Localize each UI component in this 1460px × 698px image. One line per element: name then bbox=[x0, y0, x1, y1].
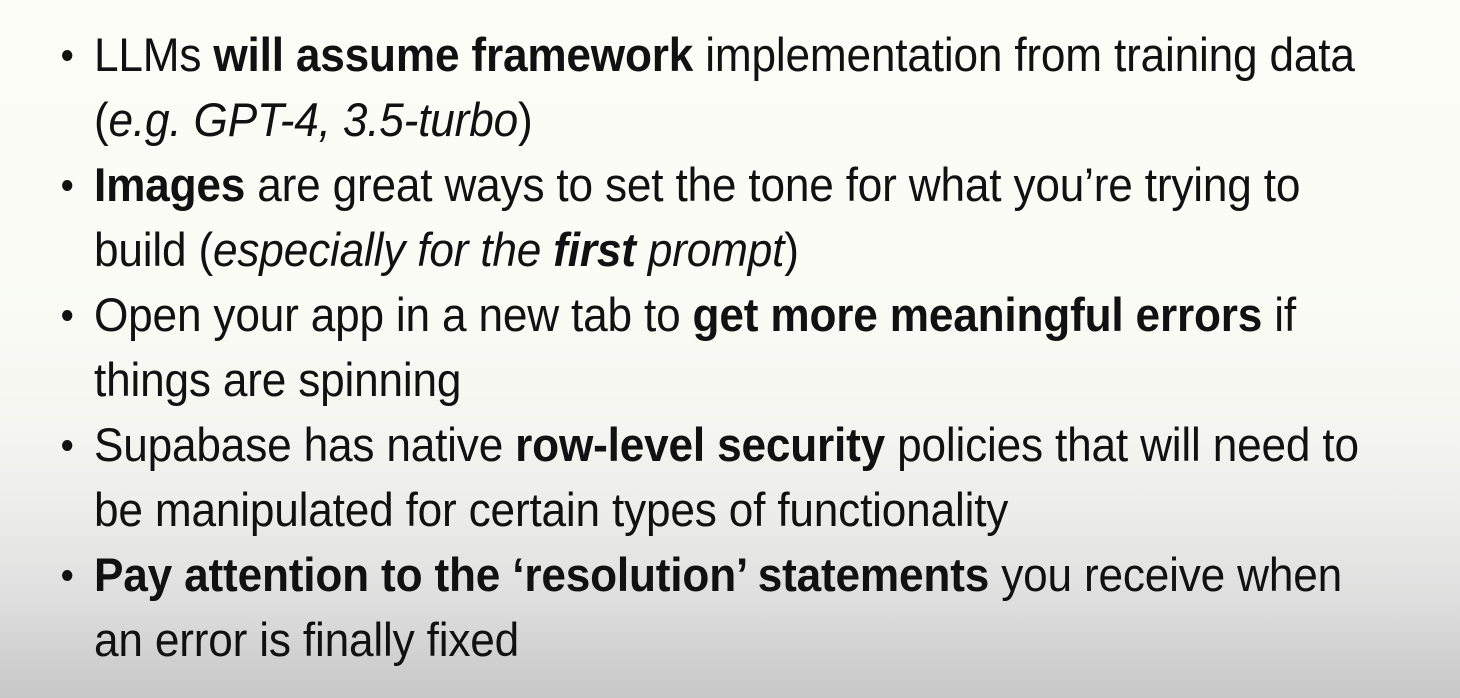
text-run: LLMs bbox=[94, 28, 213, 81]
bullet-point-icon bbox=[62, 50, 72, 61]
text-run: e.g. GPT-4, 3.5-turbo bbox=[109, 93, 518, 146]
text-run: first bbox=[553, 223, 636, 276]
bullet-point-icon bbox=[62, 570, 72, 581]
bullet-point-icon bbox=[62, 310, 72, 321]
text-run: will assume framework bbox=[213, 28, 693, 81]
slide-canvas: LLMs will assume framework implementatio… bbox=[0, 0, 1460, 698]
list-item: Supabase has native row-level security p… bbox=[0, 412, 1372, 542]
list-item-text: Supabase has native row-level security p… bbox=[94, 418, 1359, 536]
list-item: Open your app in a new tab to get more m… bbox=[0, 282, 1372, 412]
list-item: Pay attention to the ‘resolution’ statem… bbox=[0, 542, 1372, 672]
text-run: Supabase has native bbox=[94, 418, 515, 471]
list-item-text: LLMs will assume framework implementatio… bbox=[94, 28, 1355, 146]
list-item: Images are great ways to set the tone fo… bbox=[0, 152, 1372, 282]
text-run: Images bbox=[94, 158, 245, 211]
text-run: prompt bbox=[636, 223, 784, 276]
text-run: row-level security bbox=[515, 418, 885, 471]
text-run: Open your app in a new tab to bbox=[94, 288, 693, 341]
list-item-text: Pay attention to the ‘resolution’ statem… bbox=[94, 548, 1342, 666]
list-item: LLMs will assume framework implementatio… bbox=[0, 22, 1372, 152]
text-run: ) bbox=[518, 93, 533, 146]
bullet-point-icon bbox=[62, 440, 72, 451]
list-item-text: Open your app in a new tab to get more m… bbox=[94, 288, 1296, 406]
text-run: ) bbox=[784, 223, 799, 276]
bullet-point-icon bbox=[62, 180, 72, 191]
bullet-list: LLMs will assume framework implementatio… bbox=[0, 22, 1460, 672]
list-item-text: Images are great ways to set the tone fo… bbox=[94, 158, 1300, 276]
text-run: especially for the bbox=[213, 223, 553, 276]
text-run: get more meaningful errors bbox=[693, 288, 1263, 341]
text-run: Pay attention to the ‘resolution’ statem… bbox=[94, 548, 989, 601]
